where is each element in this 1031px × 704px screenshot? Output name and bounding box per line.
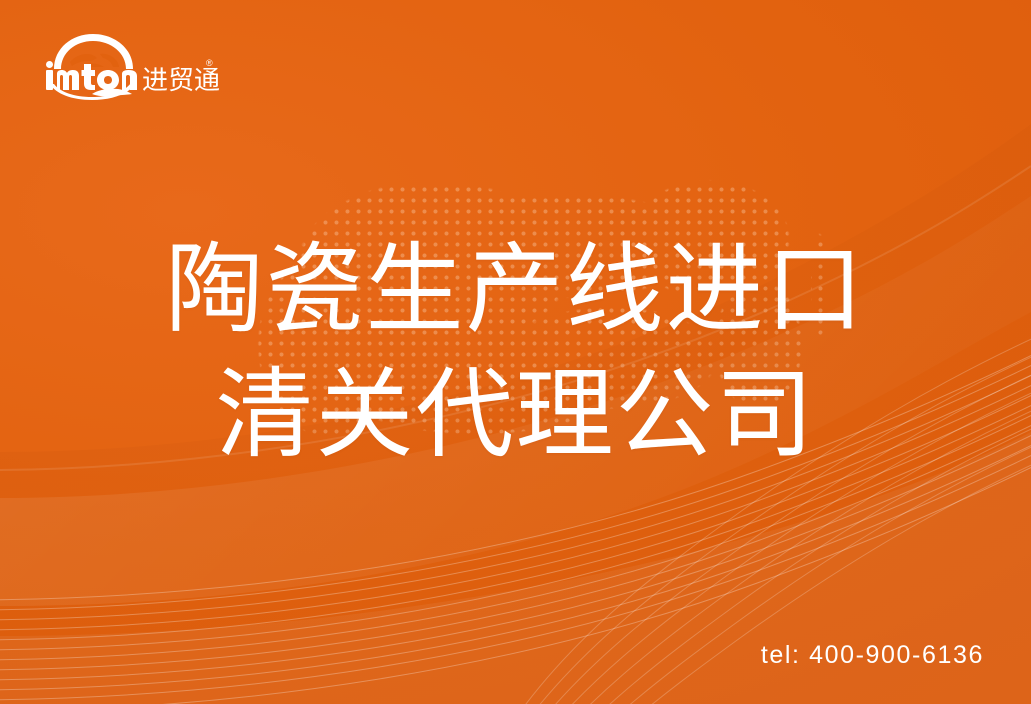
- logo-chinese-name: 进贸通: [142, 66, 219, 96]
- trademark-icon: ®: [206, 58, 213, 68]
- headline: 陶瓷生产线进口 清关代理公司: [0, 228, 1031, 479]
- contact-phone[interactable]: tel: 400-900-6136: [761, 641, 984, 670]
- headline-line-2: 清关代理公司: [0, 353, 1031, 478]
- poster-canvas: 进贸通 ® 陶瓷生产线进口 清关代理公司 tel: 400-900-6136: [0, 0, 1031, 704]
- headline-line-1: 陶瓷生产线进口: [0, 228, 1031, 353]
- brand-logo[interactable]: 进贸通 ®: [34, 28, 219, 102]
- continent-shapes-icon: [70, 54, 119, 67]
